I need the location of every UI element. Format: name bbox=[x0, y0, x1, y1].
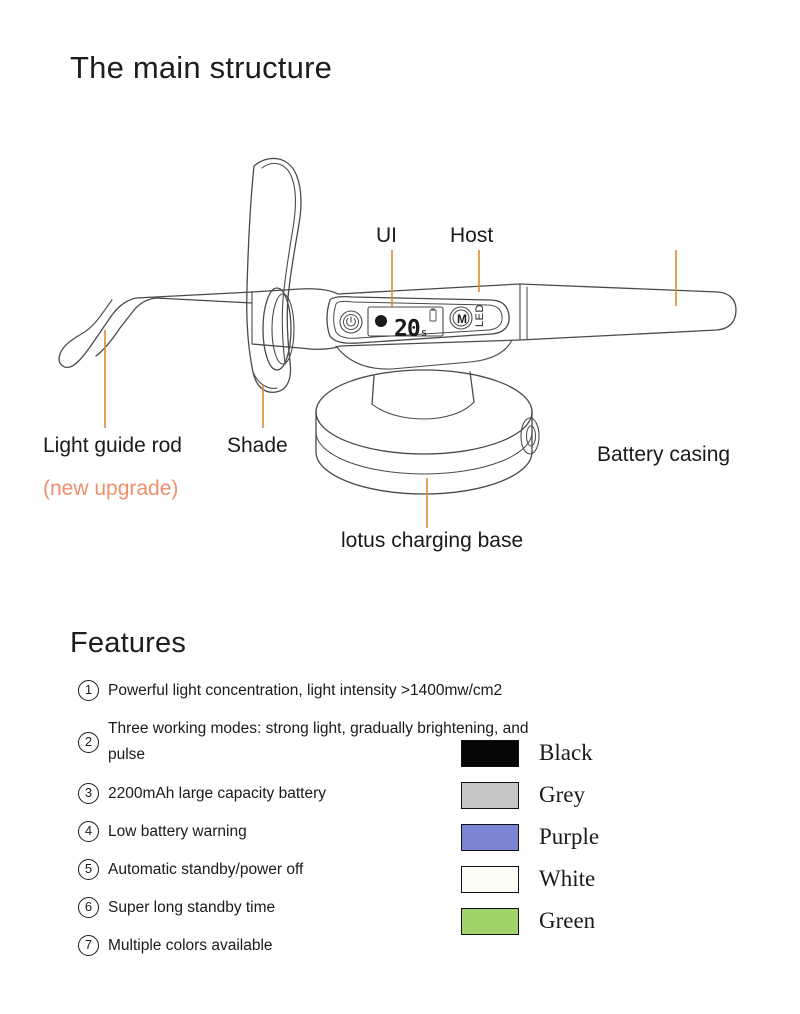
lcd-readout: 20 s bbox=[394, 316, 427, 342]
charging-base-shape bbox=[316, 370, 539, 494]
feature-number: 3 bbox=[78, 783, 99, 804]
lcd-timer-value: 20 bbox=[394, 316, 420, 342]
lcd-timer-unit: s bbox=[421, 326, 428, 339]
feature-text: 2200mAh large capacity battery bbox=[108, 781, 326, 806]
legend-item-white: White bbox=[461, 858, 599, 900]
callout-label-new-upgrade: (new upgrade) bbox=[43, 477, 178, 501]
mode-button-label: M bbox=[457, 312, 467, 326]
callout-label-shade: Shade bbox=[227, 434, 288, 458]
feature-item: 1 Powerful light concentration, light in… bbox=[78, 678, 548, 703]
callout-label-battery-casing: Battery casing bbox=[597, 443, 730, 467]
feature-text: Multiple colors available bbox=[108, 933, 273, 958]
feature-text: Powerful light concentration, light inte… bbox=[108, 678, 502, 703]
color-swatch bbox=[461, 782, 519, 809]
feature-number: 5 bbox=[78, 859, 99, 880]
feature-text: Low battery warning bbox=[108, 819, 247, 844]
color-swatch bbox=[461, 866, 519, 893]
light-guide-rod-shape bbox=[59, 292, 252, 367]
callout-label-charging-base: lotus charging base bbox=[341, 529, 523, 553]
feature-number: 6 bbox=[78, 897, 99, 918]
legend-label: Black bbox=[539, 740, 593, 766]
callout-label-ui: UI bbox=[376, 224, 397, 248]
legend-label: Green bbox=[539, 908, 595, 934]
legend-item-purple: Purple bbox=[461, 816, 599, 858]
page-title-main-structure: The main structure bbox=[70, 50, 332, 86]
callout-label-light-guide-rod: Light guide rod bbox=[43, 434, 182, 458]
feature-text: Super long standby time bbox=[108, 895, 275, 920]
legend-item-green: Green bbox=[461, 900, 599, 942]
legend-label: White bbox=[539, 866, 595, 892]
feature-number: 7 bbox=[78, 935, 99, 956]
legend-item-black: Black bbox=[461, 732, 599, 774]
color-swatch bbox=[461, 824, 519, 851]
color-swatch bbox=[461, 908, 519, 935]
feature-text: Automatic standby/power off bbox=[108, 857, 303, 882]
legend-item-grey: Grey bbox=[461, 774, 599, 816]
shade-shape bbox=[247, 158, 301, 392]
legend-label: Purple bbox=[539, 824, 599, 850]
feature-number: 4 bbox=[78, 821, 99, 842]
color-options-legend: Black Grey Purple White Green bbox=[461, 732, 599, 942]
callout-label-host: Host bbox=[450, 224, 493, 248]
feature-number: 1 bbox=[78, 680, 99, 701]
legend-label: Grey bbox=[539, 782, 585, 808]
battery-casing-shape bbox=[520, 284, 736, 340]
feature-number: 2 bbox=[78, 732, 99, 753]
led-label: LED bbox=[474, 304, 486, 327]
section-title-features: Features bbox=[70, 627, 186, 660]
color-swatch bbox=[461, 740, 519, 767]
product-diagram bbox=[0, 140, 800, 580]
